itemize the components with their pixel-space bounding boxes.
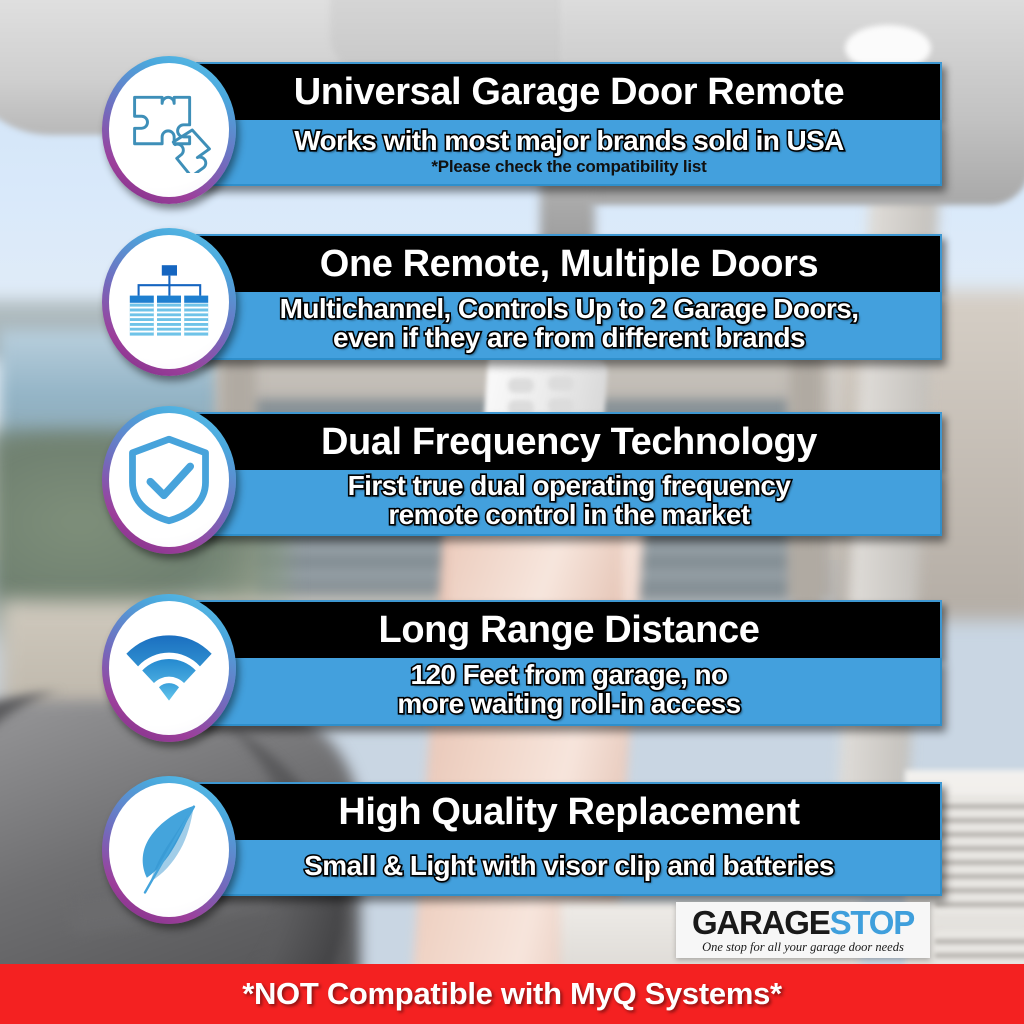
logo-word-stop: STOP bbox=[830, 904, 914, 941]
feature-title-2: One Remote, Multiple Doors bbox=[196, 234, 942, 292]
feature-icon-feather bbox=[102, 776, 236, 924]
feature-icon-wifi-signal bbox=[102, 594, 236, 742]
feature-subtitle-5: Small & Light with visor clip and batter… bbox=[304, 852, 834, 881]
logo-wordmark: GARAGESTOP bbox=[692, 906, 914, 939]
wifi-signal-icon bbox=[123, 632, 215, 704]
feature-list: Universal Garage Door Remote Works with … bbox=[0, 0, 1024, 1024]
feature-subtitle-3: First true dual operating frequency bbox=[348, 472, 791, 501]
logo-tagline: One stop for all your garage door needs bbox=[702, 940, 904, 955]
feature-subtitle-1: Works with most major brands sold in USA bbox=[294, 127, 844, 156]
feature-subtitle-2: Multichannel, Controls Up to 2 Garage Do… bbox=[280, 295, 859, 324]
feature-title-3: Dual Frequency Technology bbox=[196, 412, 942, 470]
feature-row-1: Universal Garage Door Remote Works with … bbox=[196, 62, 942, 186]
feature-subtitle-3-line2: remote control in the market bbox=[388, 501, 749, 530]
multiple-garage-doors-icon bbox=[125, 263, 213, 341]
feature-note-1: *Please check the compatibility list bbox=[431, 158, 706, 175]
icon-circle-inner bbox=[109, 601, 229, 735]
feature-title-5: High Quality Replacement bbox=[196, 782, 942, 840]
compatibility-warning-banner: *NOT Compatible with MyQ Systems* bbox=[0, 964, 1024, 1024]
icon-circle-inner bbox=[109, 235, 229, 369]
feature-subtitle-block-4: 120 Feet from garage, no more waiting ro… bbox=[196, 658, 942, 726]
feature-subtitle-4: 120 Feet from garage, no bbox=[410, 661, 727, 690]
icon-circle-inner bbox=[109, 413, 229, 547]
feature-title-4: Long Range Distance bbox=[196, 600, 942, 658]
icon-circle-inner bbox=[109, 63, 229, 197]
feather-icon bbox=[126, 802, 212, 898]
feature-subtitle-2-line2: even if they are from different brands bbox=[333, 324, 805, 353]
feature-title-1: Universal Garage Door Remote bbox=[196, 62, 942, 120]
icon-circle-inner bbox=[109, 783, 229, 917]
feature-subtitle-block-2: Multichannel, Controls Up to 2 Garage Do… bbox=[196, 292, 942, 360]
feature-icon-puzzle-pieces bbox=[102, 56, 236, 204]
product-infographic: Universal Garage Door Remote Works with … bbox=[0, 0, 1024, 1024]
feature-row-5: High Quality Replacement Small & Light w… bbox=[196, 782, 942, 896]
feature-icon-shield-check bbox=[102, 406, 236, 554]
feature-row-4: Long Range Distance 120 Feet from garage… bbox=[196, 600, 942, 726]
logo-word-garage: GARAGE bbox=[692, 904, 830, 941]
feature-subtitle-block-1: Works with most major brands sold in USA… bbox=[196, 120, 942, 186]
puzzle-pieces-icon bbox=[126, 87, 212, 173]
feature-row-2: One Remote, Multiple Doors Multichannel,… bbox=[196, 234, 942, 360]
shield-check-icon bbox=[126, 435, 212, 525]
feature-subtitle-block-3: First true dual operating frequency remo… bbox=[196, 470, 942, 536]
brand-logo: GARAGESTOP One stop for all your garage … bbox=[676, 902, 930, 958]
feature-subtitle-4-line2: more waiting roll-in access bbox=[397, 690, 740, 719]
feature-row-3: Dual Frequency Technology First true dua… bbox=[196, 412, 942, 536]
feature-subtitle-block-5: Small & Light with visor clip and batter… bbox=[196, 840, 942, 896]
feature-icon-multiple-garage-doors bbox=[102, 228, 236, 376]
compatibility-warning-text: *NOT Compatible with MyQ Systems* bbox=[242, 976, 782, 1012]
